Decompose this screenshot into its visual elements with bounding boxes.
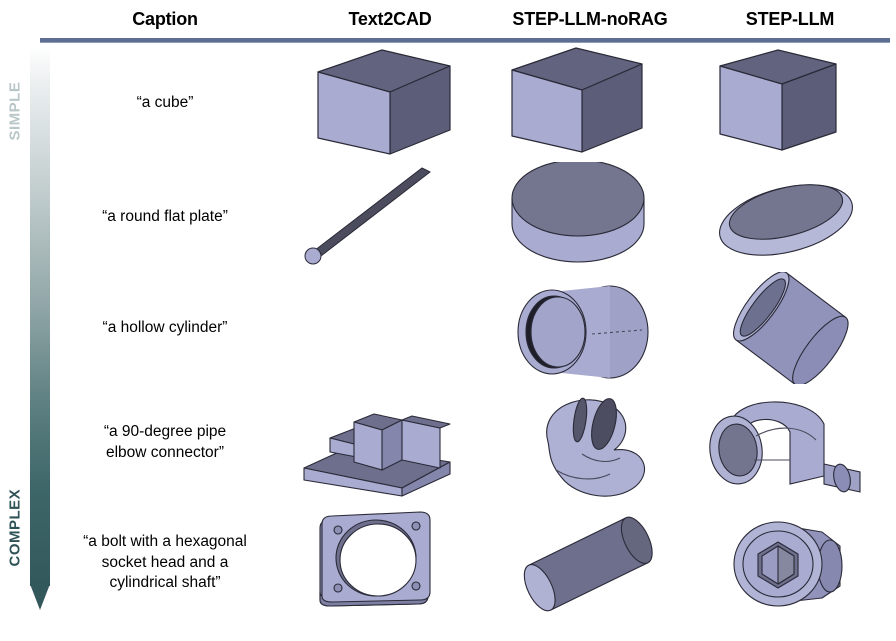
render-cell-text2cad [290,502,490,624]
render-cell-text2cad [290,162,490,272]
render-cell-step-llm-norag [490,272,690,384]
table-row: “a cube” [40,44,890,162]
caption-line: cylindrical shaft” [83,573,247,594]
render-cell-step-llm-norag [490,162,690,272]
axis-label-simple: SIMPLE [7,85,24,141]
render-cell-step-llm [690,272,890,384]
render-cell-step-llm-norag [490,502,690,624]
table-row: “a 90-degree pipe elbow connector” [40,384,890,502]
render-cell-step-llm [690,384,890,502]
column-header-step-llm: STEP-LLM [690,0,890,38]
table-row: “a hollow cylinder” [40,272,890,384]
render-cell-step-llm [690,162,890,272]
thin-rod-render [290,162,490,272]
caption-line: socket head and a [83,553,247,574]
caption-line: “a 90-degree pipe [104,422,226,443]
render-cell-step-llm-norag [490,44,690,162]
caption-cell: “a bolt with a hexagonal socket head and… [40,502,290,624]
table-row: “a bolt with a hexagonal socket head and… [40,502,890,624]
render-cell-step-llm [690,502,890,624]
caption-cell: “a cube” [40,44,290,162]
cube-render [290,44,490,162]
square-flange-plate-render [290,502,490,624]
column-header-step-llm-norag: STEP-LLM-noRAG [490,0,690,38]
table-row: “a round flat plate” [40,162,890,272]
comparison-figure: SIMPLE COMPLEX Caption Text2CAD STEP-LLM… [0,0,896,641]
axis-label-complex: COMPLEX [7,511,24,567]
flat-round-plate-render [690,162,890,272]
plain-capsule-render [490,502,690,624]
malformed-blob-render [490,384,690,502]
render-cell-step-llm [690,44,890,162]
hollow-tube-render [690,272,890,384]
cube-render [490,44,690,162]
socket-head-bolt-render [690,502,890,624]
column-header-caption: Caption [40,0,290,38]
render-cell-step-llm-norag [490,384,690,502]
thick-disc-render [490,162,690,272]
caption-line: elbow connector” [104,443,226,464]
cube-render [690,44,890,162]
column-header-text2cad: Text2CAD [290,0,490,38]
table-body: “a cube” [40,44,890,624]
caption-cell: “a round flat plate” [40,162,290,272]
caption-line: “a bolt with a hexagonal [83,532,247,553]
pipe-elbow-render [690,384,890,502]
short-flanged-tube-render [490,272,690,384]
caption-cell: “a hollow cylinder” [40,272,290,384]
render-cell-text2cad [290,272,490,384]
stepped-block-render [290,384,490,502]
comparison-table: Caption Text2CAD STEP-LLM-noRAG STEP-LLM… [40,0,890,641]
caption-cell: “a 90-degree pipe elbow connector” [40,384,290,502]
render-cell-text2cad [290,384,490,502]
table-header-row: Caption Text2CAD STEP-LLM-noRAG STEP-LLM [40,0,890,38]
render-cell-text2cad [290,44,490,162]
header-divider [40,38,890,43]
empty-render [290,272,490,384]
